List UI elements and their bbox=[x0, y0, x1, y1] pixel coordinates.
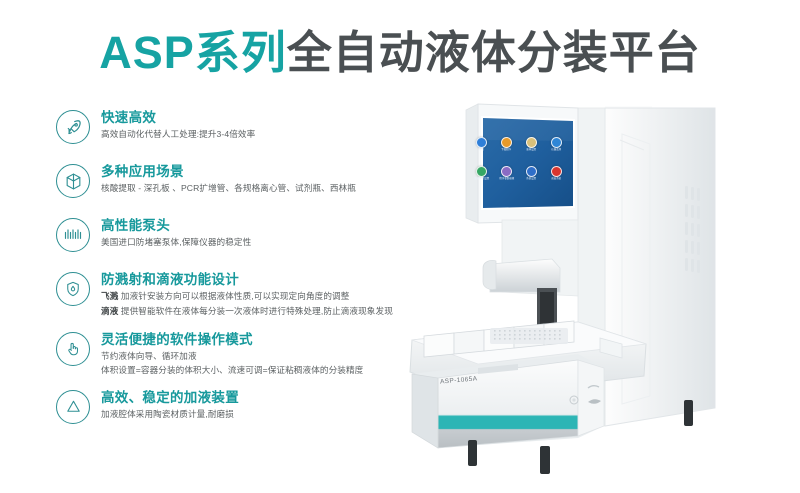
feature-desc-text: 高效自动化代替人工处理:提升3-4倍效率 bbox=[101, 129, 255, 139]
screen-icon-program[interactable]: 下载程序 bbox=[495, 137, 519, 165]
feature-desc-text: 提供智能软件在液体每分装一次液体时进行特殊处理,防止滴液现象发现 bbox=[121, 306, 393, 316]
screen-icon-label: 仪器监测 bbox=[551, 149, 561, 151]
screen-icon-grid[interactable]: 运行 下载程序 液体设置 仪器监测 加液模式设置 程序参数编辑 bbox=[470, 137, 568, 193]
feature-item-pump-head: 高性能泵头 美国进口防堵塞泵体,保障仪器的稳定性 bbox=[56, 216, 406, 252]
liquid-icon[interactable] bbox=[526, 137, 537, 148]
screen-icon-liquid[interactable]: 液体设置 bbox=[520, 137, 544, 165]
feature-desc-text: 核酸提取 - 深孔板 、PCR扩增管、各规格离心管、试剂瓶、西林瓶 bbox=[101, 183, 356, 193]
feature-desc-text: 美国进口防堵塞泵体,保障仪器的稳定性 bbox=[101, 237, 251, 247]
screen-icon-label: 加液模式设置 bbox=[474, 178, 489, 180]
product-feature-page: ASP系列全自动液体分装平台 快速高效 高效自动化代替人工处理:提升3-4倍效率 bbox=[0, 0, 800, 493]
feature-desc: 高效自动化代替人工处理:提升3-4倍效率 bbox=[101, 128, 255, 141]
feature-item-dosing-device: 高效、稳定的加液装置 加液腔体采用陶瓷材质计量,耐磨损 bbox=[56, 388, 406, 424]
feature-desc: 美国进口防堵塞泵体,保障仪器的稳定性 bbox=[101, 236, 251, 249]
screen-icon-monitor[interactable]: 仪器监测 bbox=[544, 137, 568, 165]
feature-title: 高效、稳定的加液装置 bbox=[101, 389, 239, 407]
waveform-icon bbox=[56, 218, 90, 252]
screen-icon-exit[interactable]: 退出系统 bbox=[544, 166, 568, 194]
feature-desc-lead: 滴液 bbox=[101, 306, 118, 316]
feature-desc: 飞溅 加液针安装方向可以根据液体性质,可以实现定向角度的调整 bbox=[101, 290, 393, 303]
search-icon[interactable] bbox=[551, 137, 562, 148]
feature-desc-text: 加液腔体采用陶瓷材质计量,耐磨损 bbox=[101, 409, 234, 419]
params-icon[interactable] bbox=[501, 166, 512, 177]
feature-body: 防溅射和滴液功能设计 飞溅 加液针安装方向可以根据液体性质,可以实现定向角度的调… bbox=[101, 270, 393, 318]
leg bbox=[540, 446, 550, 474]
add-mode-icon[interactable] bbox=[476, 166, 487, 177]
feature-item-software-mode: 灵活便捷的软件操作模式 节约液体向导、循环加液 体积设置=容器分装的体积大小、流… bbox=[56, 330, 406, 378]
power-icon[interactable] bbox=[551, 166, 562, 177]
leg bbox=[468, 440, 477, 466]
screen-icon-label: 下载程序 bbox=[502, 149, 512, 151]
feature-desc-text: 加液针安装方向可以根据液体性质,可以实现定向角度的调整 bbox=[121, 291, 350, 301]
dispensing-arm bbox=[490, 259, 560, 292]
feature-title: 高性能泵头 bbox=[101, 217, 251, 235]
feature-desc: 滴液 提供智能软件在液体每分装一次液体时进行特殊处理,防止滴液现象发现 bbox=[101, 305, 393, 318]
screen-icon-add-mode[interactable]: 加液模式设置 bbox=[470, 166, 494, 194]
rocket-icon bbox=[56, 110, 90, 144]
feature-desc-text: 节约液体向导、循环加液 bbox=[101, 351, 197, 361]
feature-desc: 核酸提取 - 深孔板 、PCR扩增管、各规格离心管、试剂瓶、西林瓶 bbox=[101, 182, 356, 195]
feature-title: 防溅射和滴液功能设计 bbox=[101, 271, 393, 289]
leg bbox=[684, 400, 693, 426]
feature-item-anti-splash: 防溅射和滴液功能设计 飞溅 加液针安装方向可以根据液体性质,可以实现定向角度的调… bbox=[56, 270, 406, 318]
feature-body: 高效、稳定的加液装置 加液腔体采用陶瓷材质计量,耐磨损 bbox=[101, 388, 239, 422]
cube-hexagon-icon bbox=[56, 164, 90, 198]
page-title: ASP系列全自动液体分装平台 bbox=[0, 30, 800, 75]
program-icon[interactable] bbox=[501, 137, 512, 148]
page-title-main: 全自动液体分装平台 bbox=[287, 27, 701, 78]
machine-illustration bbox=[382, 96, 782, 486]
feature-title: 多种应用场景 bbox=[101, 163, 356, 181]
screen-icon-label: 系统设置 bbox=[526, 178, 536, 180]
screen-icon-params[interactable]: 程序参数编辑 bbox=[495, 166, 519, 194]
product-photo-dispensing-platform: 运行 下载程序 液体设置 仪器监测 加液模式设置 程序参数编辑 bbox=[382, 96, 782, 486]
feature-list: 快速高效 高效自动化代替人工处理:提升3-4倍效率 多种应用场景 核酸提取 - … bbox=[56, 108, 406, 424]
shield-drop-icon bbox=[56, 272, 90, 306]
feature-body: 快速高效 高效自动化代替人工处理:提升3-4倍效率 bbox=[101, 108, 255, 142]
screen-icon-system[interactable]: 系统设置 bbox=[520, 166, 544, 194]
feature-title: 灵活便捷的软件操作模式 bbox=[101, 331, 363, 349]
screen-icon-run[interactable]: 运行 bbox=[470, 137, 494, 165]
run-icon[interactable] bbox=[476, 137, 487, 148]
feature-body: 高性能泵头 美国进口防堵塞泵体,保障仪器的稳定性 bbox=[101, 216, 251, 250]
triangle-icon bbox=[56, 390, 90, 424]
feature-desc: 节约液体向导、循环加液 bbox=[101, 350, 363, 363]
shield-icon[interactable] bbox=[526, 166, 537, 177]
feature-item-fast-efficient: 快速高效 高效自动化代替人工处理:提升3-4倍效率 bbox=[56, 108, 406, 144]
feature-desc-text: 体积设置=容器分装的体积大小、流速可调=保证粘稠液体的分装精度 bbox=[101, 365, 363, 375]
feature-desc: 加液腔体采用陶瓷材质计量,耐磨损 bbox=[101, 408, 239, 421]
feature-body: 多种应用场景 核酸提取 - 深孔板 、PCR扩增管、各规格离心管、试剂瓶、西林瓶 bbox=[101, 162, 356, 196]
hand-tap-icon bbox=[56, 332, 90, 366]
screen-icon-label: 退出系统 bbox=[551, 178, 561, 180]
screen-icon-label: 液体设置 bbox=[526, 149, 536, 151]
feature-desc: 体积设置=容器分装的体积大小、流速可调=保证粘稠液体的分装精度 bbox=[101, 364, 363, 377]
feature-body: 灵活便捷的软件操作模式 节约液体向导、循环加液 体积设置=容器分装的体积大小、流… bbox=[101, 330, 363, 378]
feature-desc-lead: 飞溅 bbox=[101, 291, 118, 301]
screen-icon-label: 运行 bbox=[479, 149, 484, 151]
screen-icon-label: 程序参数编辑 bbox=[499, 178, 514, 180]
page-title-accent: ASP系列 bbox=[99, 27, 287, 78]
feature-item-applications: 多种应用场景 核酸提取 - 深孔板 、PCR扩增管、各规格离心管、试剂瓶、西林瓶 bbox=[56, 162, 406, 198]
feature-title: 快速高效 bbox=[101, 109, 255, 127]
